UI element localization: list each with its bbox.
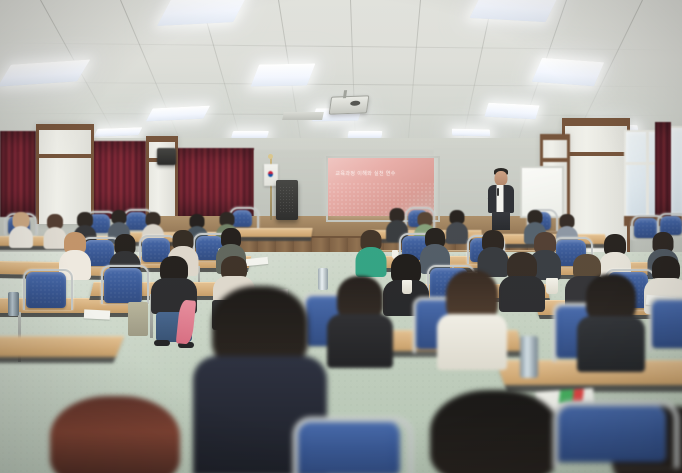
conference-chair (652, 300, 682, 366)
attendee (10, 212, 32, 246)
seminar-table (0, 336, 124, 357)
left-curtain (0, 131, 36, 217)
ceiling-projector (329, 95, 370, 114)
ceiling-light-panel (157, 0, 249, 26)
attendee-torso (437, 314, 507, 370)
attendee-torso (9, 226, 33, 248)
conference-chair (556, 404, 666, 473)
left-curtain (88, 141, 146, 219)
presenter-head (495, 171, 508, 186)
ceiling-light-panel (452, 129, 490, 137)
ceiling-light-panel (470, 0, 561, 22)
ceiling-air-diffuser (282, 112, 324, 120)
attendee-hair (50, 396, 180, 473)
podium (276, 180, 298, 220)
attendee-hair (586, 274, 636, 322)
conference-chair (296, 420, 400, 473)
attendee-torso (577, 316, 645, 372)
slide-text: 교육과정 이해와 실천 연수 (335, 170, 395, 177)
right-curtain (655, 122, 671, 222)
attendee (500, 252, 544, 318)
flag-finial (268, 154, 273, 159)
attendee (440, 270, 504, 366)
attendee-torso (327, 314, 393, 368)
presenter-legs (492, 212, 510, 230)
attendee-torso (499, 276, 545, 312)
ceiling-light-panel (348, 131, 383, 138)
attendee-foreground (50, 396, 180, 473)
paper-cup (402, 280, 412, 294)
attendee (330, 276, 390, 366)
conference-chair (26, 272, 66, 322)
tumbler (8, 292, 19, 316)
attendee-shoe (154, 340, 170, 346)
microphone (497, 188, 499, 196)
ceiling-light-panel (231, 131, 269, 138)
handout-paper (84, 309, 110, 319)
ceiling-light-panel (94, 127, 143, 137)
wall-speaker (157, 148, 176, 165)
attendee (580, 274, 642, 366)
tumbler (520, 336, 538, 378)
attendee-foreground (430, 390, 560, 473)
attendee (356, 230, 386, 278)
paper-cup (546, 278, 558, 294)
ceiling-light-panel (251, 64, 316, 87)
ceiling-light-panel (146, 106, 210, 122)
seminar-room-photo: 교육과정 이해와 실천 연수 (0, 0, 682, 473)
projector-lens (350, 101, 361, 106)
attendee-torso (356, 247, 387, 277)
attendee-hair (430, 390, 560, 473)
presenter (484, 168, 518, 230)
ceiling-light-panel (532, 58, 605, 86)
tote-bag (128, 302, 148, 336)
presenter-jacket (488, 185, 514, 213)
ceiling-light-panel (484, 103, 539, 120)
wall-pillar (36, 124, 94, 224)
